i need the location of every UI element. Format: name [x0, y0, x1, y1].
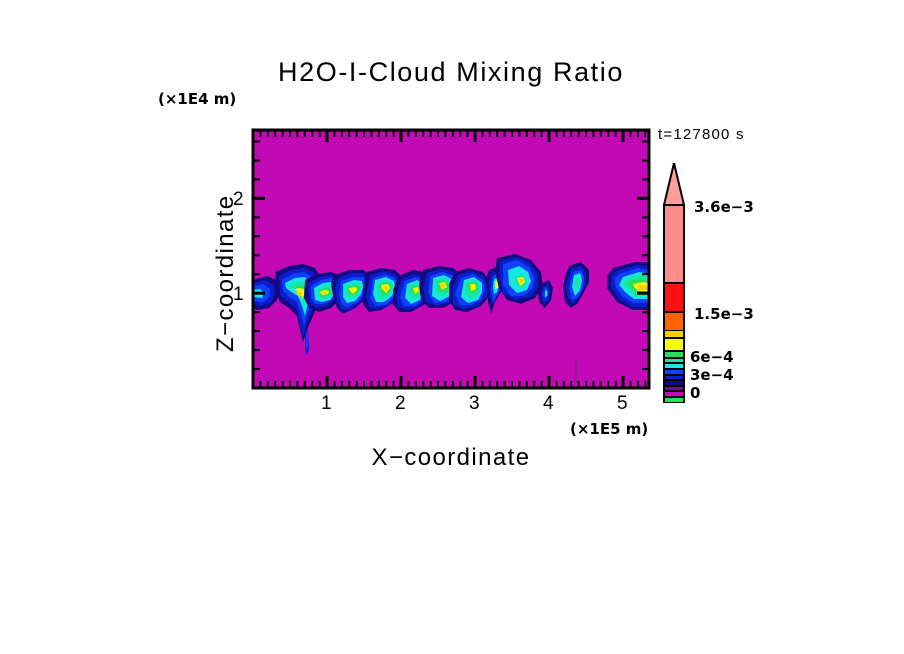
colorbar-tick-label: 0 — [690, 384, 700, 402]
x-tick-label: 5 — [617, 393, 628, 415]
x-tick-label: 4 — [543, 393, 554, 415]
y-axis-title: Z−coordinate — [214, 194, 238, 352]
plot-frame — [253, 130, 649, 388]
colorbar-tick-label: 3e−4 — [690, 366, 734, 384]
x-tick-label: 2 — [395, 393, 406, 415]
colorbar-arrow-cap — [664, 163, 684, 205]
plot-axes — [245, 122, 665, 412]
x-tick-label: 3 — [469, 393, 480, 415]
x-tick-label: 1 — [321, 393, 332, 415]
figure-canvas: H2O-I-Cloud Mixing Ratio (×1E4 m) t=1278… — [0, 0, 904, 654]
x-axis-units-label: (×1E5 m) — [570, 422, 648, 437]
z-axis-units-label: (×1E4 m) — [158, 92, 236, 107]
y-axis-ticks — [253, 142, 649, 370]
time-annotation: t=127800 s — [658, 127, 745, 142]
x-axis-ticks — [260, 130, 645, 388]
colorbar-tick-label: 3.6e−3 — [694, 198, 754, 216]
page-title: H2O-I-Cloud Mixing Ratio — [253, 59, 649, 86]
colorbar-tick-label: 6e−4 — [690, 348, 734, 366]
colorbar-tick-label: 1.5e−3 — [694, 305, 754, 323]
x-axis-title: X−coordinate — [253, 446, 649, 470]
